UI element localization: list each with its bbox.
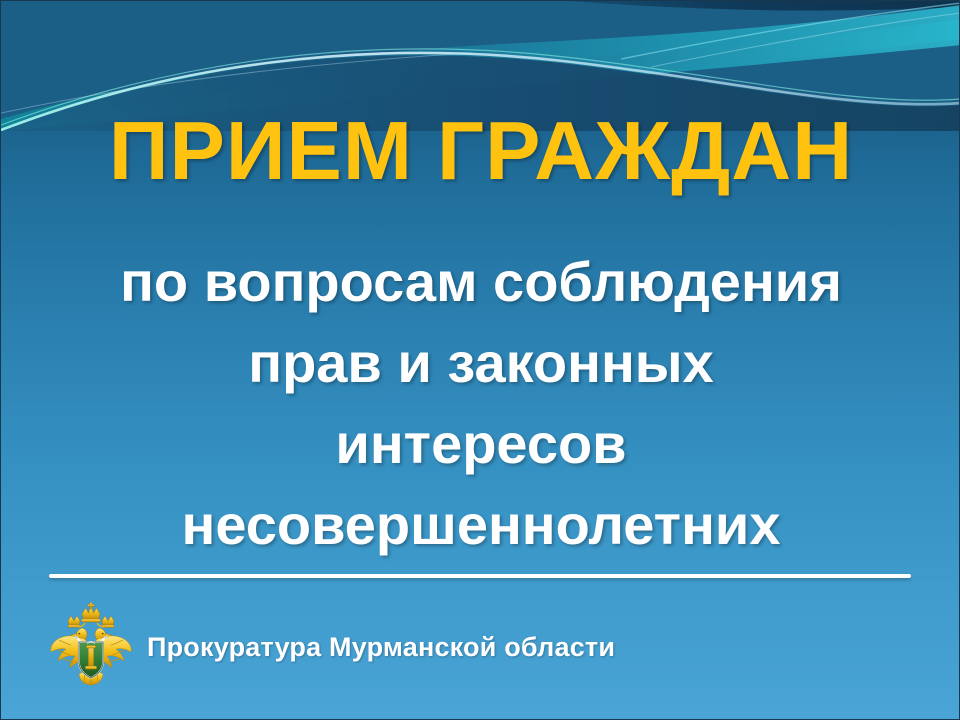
prosecutors-office-emblem-icon xyxy=(49,602,133,692)
subtitle-line-2: прав и законных xyxy=(25,322,937,403)
slide-footer: Прокуратура Мурманской области xyxy=(49,599,929,695)
title-slide: ПРИЕМ ГРАЖДАН по вопросам соблюдения пра… xyxy=(0,0,960,720)
subtitle-line-1: по вопросам соблюдения xyxy=(25,241,937,322)
slide-subtitle-block: по вопросам соблюдения прав и законных и… xyxy=(25,241,937,565)
subtitle-line-3: интересов xyxy=(25,403,937,484)
subtitle-line-4: несовершеннолетних xyxy=(25,484,937,565)
page-title: ПРИЕМ ГРАЖДАН xyxy=(1,109,960,192)
horizontal-divider xyxy=(49,574,911,578)
organization-name: Прокуратура Мурманской области xyxy=(147,632,615,663)
slide-title-block: ПРИЕМ ГРАЖДАН xyxy=(1,109,960,192)
